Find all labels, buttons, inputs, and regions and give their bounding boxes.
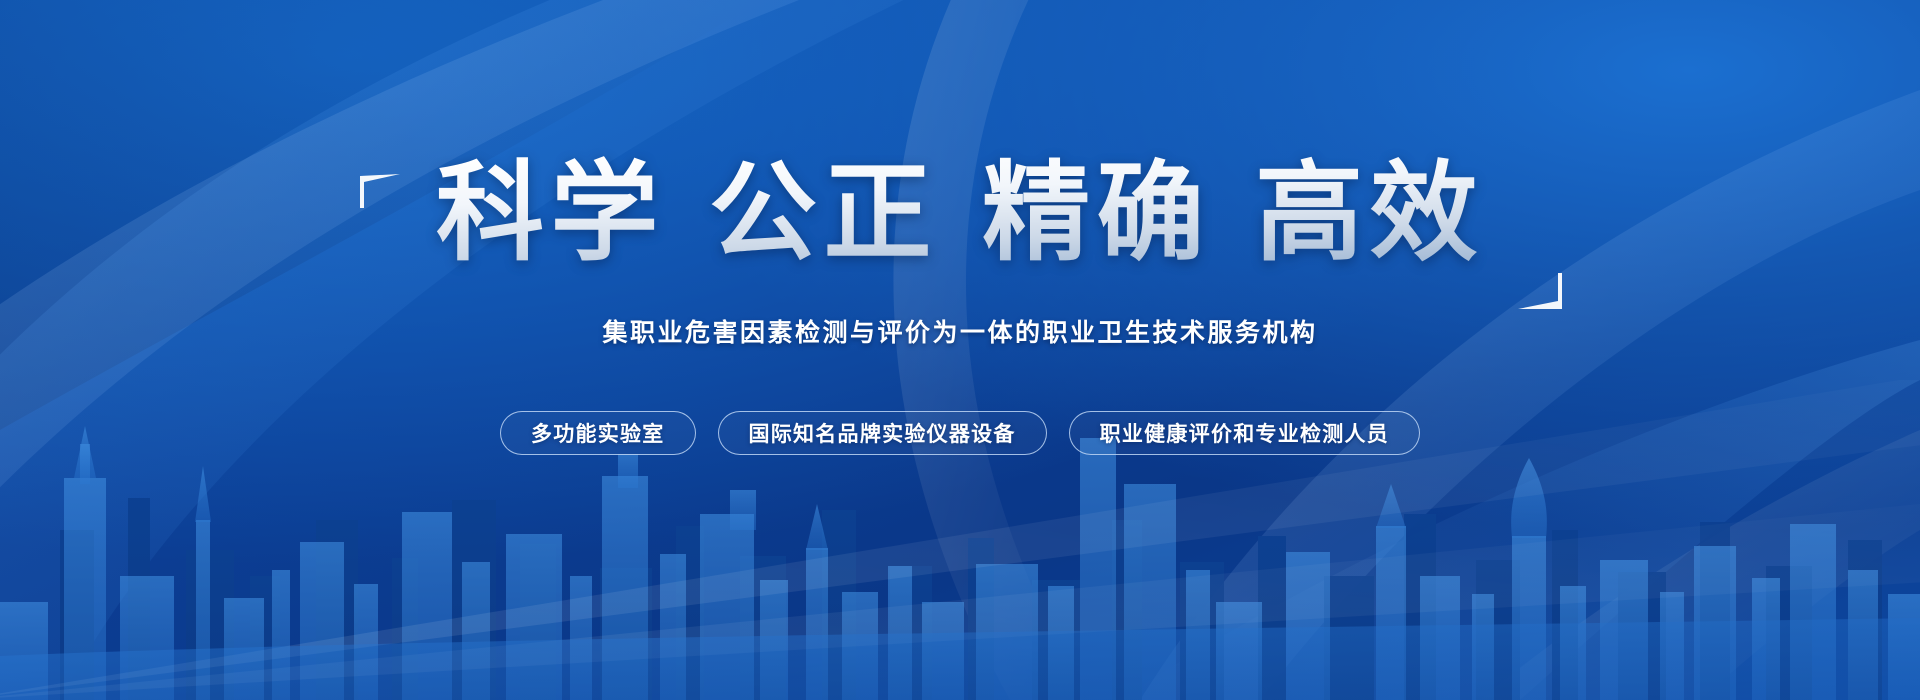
feature-pill-equipment[interactable]: 国际知名品牌实验仪器设备	[718, 411, 1047, 455]
feature-pill-lab[interactable]: 多功能实验室	[500, 411, 696, 455]
corner-bracket-open-icon	[358, 174, 402, 210]
corner-bracket-close-icon	[1516, 271, 1564, 311]
headline-block: 科学 公正 精确 高效	[362, 150, 1558, 277]
feature-pill-list: 多功能实验室 国际知名品牌实验仪器设备 职业健康评价和专业检测人员	[500, 411, 1420, 455]
hero-banner: 科学 公正 精确 高效 集职业危害因素检测与评价为一体的职业卫生技术服务机构 多…	[0, 0, 1920, 700]
page-title: 科学 公正 精确 高效	[436, 150, 1484, 277]
banner-subtitle: 集职业危害因素检测与评价为一体的职业卫生技术服务机构	[602, 313, 1317, 349]
feature-pill-staff[interactable]: 职业健康评价和专业检测人员	[1069, 411, 1420, 455]
banner-content: 科学 公正 精确 高效 集职业危害因素检测与评价为一体的职业卫生技术服务机构 多…	[0, 0, 1920, 700]
